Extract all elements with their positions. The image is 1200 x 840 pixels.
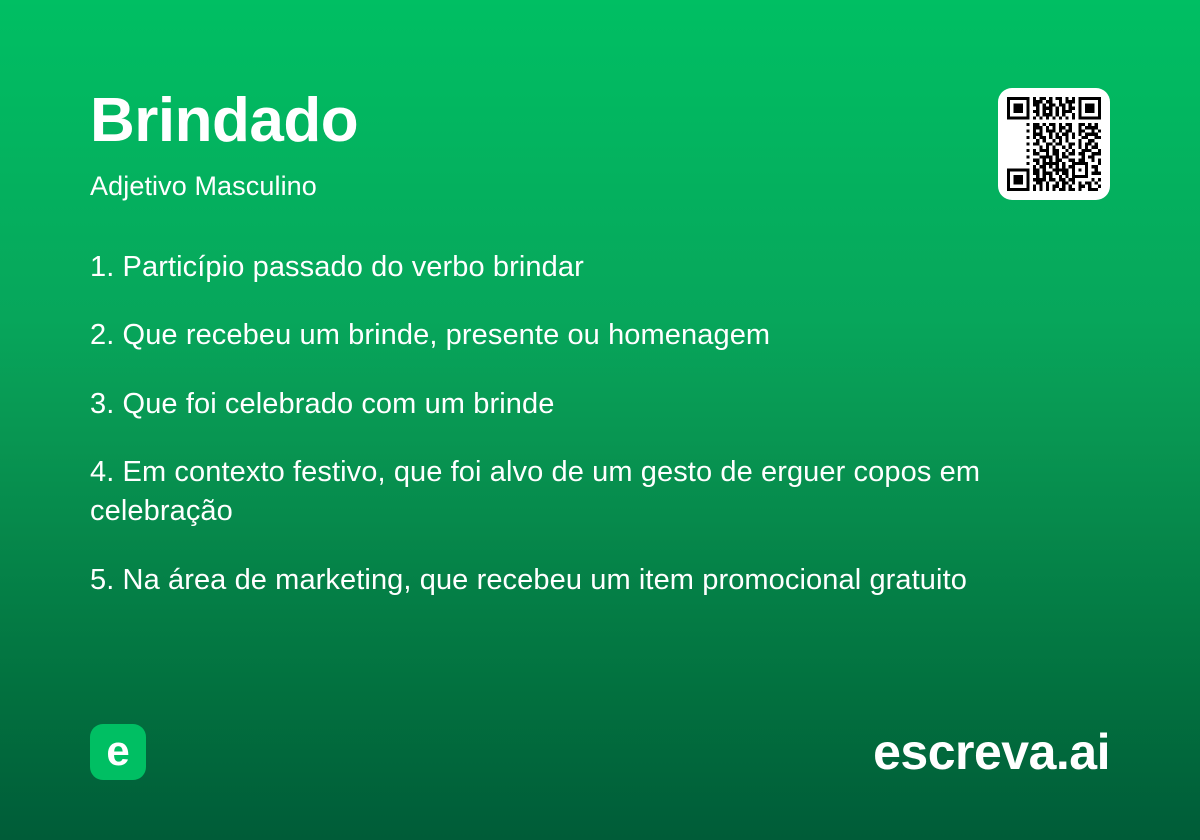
definition-list: 1. Particípio passado do verbo brindar 2…	[90, 248, 1110, 599]
dictionary-card: Brindado Adjetivo Masculino	[0, 0, 1200, 840]
brand-wordmark: escreva.ai	[873, 727, 1110, 777]
card-footer: e escreva.ai	[90, 724, 1110, 780]
card-header: Brindado Adjetivo Masculino	[90, 88, 1110, 202]
logo-letter: e	[106, 730, 129, 772]
qr-code-icon[interactable]	[998, 88, 1110, 200]
definition-item: 5. Na área de marketing, que recebeu um …	[90, 561, 1110, 600]
definition-item: 1. Particípio passado do verbo brindar	[90, 248, 1110, 287]
definition-item: 2. Que recebeu um brinde, presente ou ho…	[90, 316, 1110, 355]
word-title: Brindado	[90, 90, 358, 152]
word-class-label: Adjetivo Masculino	[90, 172, 358, 202]
escreva-logo-icon: e	[90, 724, 146, 780]
definition-item: 3. Que foi celebrado com um brinde	[90, 385, 1110, 424]
definition-item: 4. Em contexto festivo, que foi alvo de …	[90, 453, 1110, 530]
word-headings: Brindado Adjetivo Masculino	[90, 88, 358, 202]
